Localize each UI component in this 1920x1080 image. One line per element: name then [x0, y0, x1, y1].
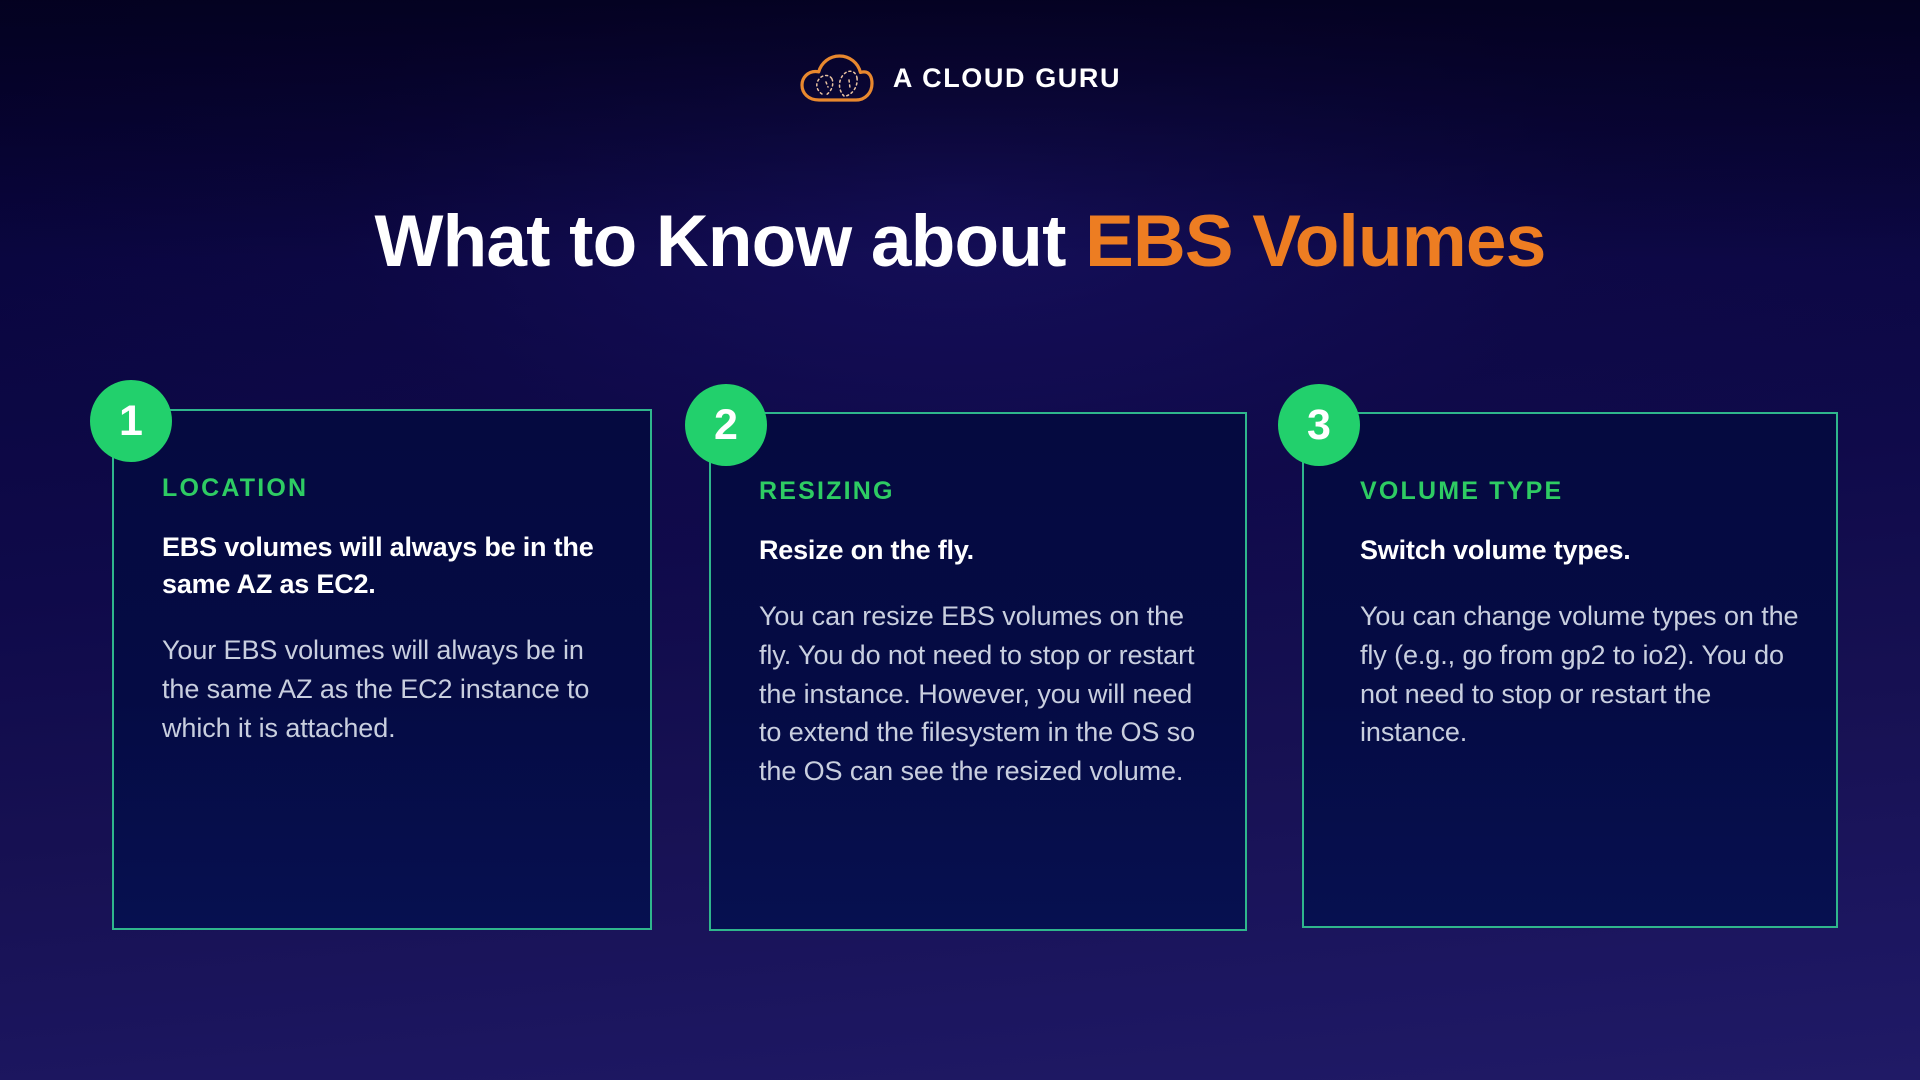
card-body: Your EBS volumes will always be in the s…: [162, 631, 616, 748]
card-headline: Switch volume types.: [1360, 532, 1802, 569]
card-body: You can change volume types on the fly (…: [1360, 597, 1802, 753]
card-headline: Resize on the fly.: [759, 532, 1211, 569]
card-number-badge-3: 3: [1278, 384, 1360, 466]
card-resizing: RESIZING Resize on the fly. You can resi…: [709, 412, 1247, 931]
card-headline: EBS volumes will always be in the same A…: [162, 529, 616, 604]
card-number-badge-2: 2: [685, 384, 767, 466]
cards-container: LOCATION EBS volumes will always be in t…: [0, 0, 1920, 1080]
card-content: LOCATION EBS volumes will always be in t…: [114, 411, 650, 748]
card-location: LOCATION EBS volumes will always be in t…: [112, 409, 652, 930]
card-volume-type: VOLUME TYPE Switch volume types. You can…: [1302, 412, 1838, 928]
card-number-badge-1: 1: [90, 380, 172, 462]
card-kicker: RESIZING: [759, 478, 1211, 506]
card-kicker: LOCATION: [162, 475, 616, 503]
card-content: VOLUME TYPE Switch volume types. You can…: [1304, 414, 1836, 752]
card-kicker: VOLUME TYPE: [1360, 478, 1802, 506]
card-body: You can resize EBS volumes on the fly. Y…: [759, 597, 1211, 791]
card-content: RESIZING Resize on the fly. You can resi…: [711, 414, 1245, 791]
